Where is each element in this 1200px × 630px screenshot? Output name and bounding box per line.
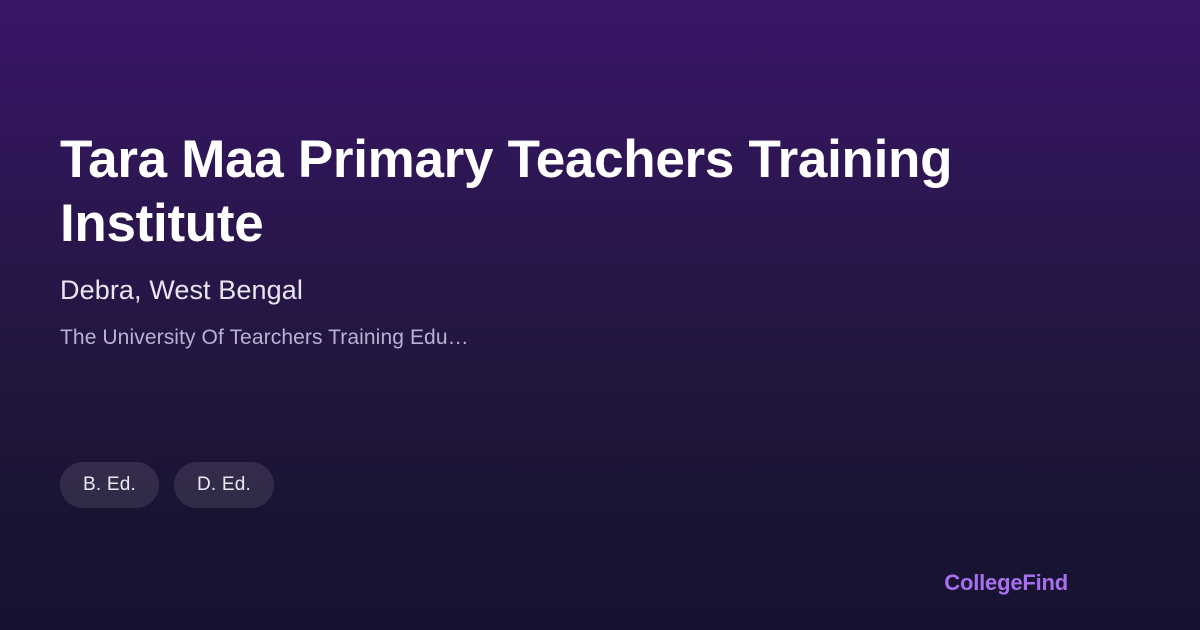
- college-affiliation: The University Of Tearchers Training Edu…: [60, 307, 1070, 351]
- college-location: Debra, West Bengal: [60, 256, 1070, 307]
- course-tag-d-ed[interactable]: D. Ed.: [174, 462, 274, 508]
- brand-logo: CollegeFind: [944, 570, 1068, 596]
- course-tag-b-ed[interactable]: B. Ed.: [60, 462, 159, 508]
- course-tag-list: B. Ed. D. Ed.: [60, 462, 274, 508]
- college-share-card: Tara Maa Primary Teachers Training Insti…: [0, 0, 1200, 630]
- page-title: Tara Maa Primary Teachers Training Insti…: [60, 128, 1010, 256]
- card-content: Tara Maa Primary Teachers Training Insti…: [60, 128, 1070, 351]
